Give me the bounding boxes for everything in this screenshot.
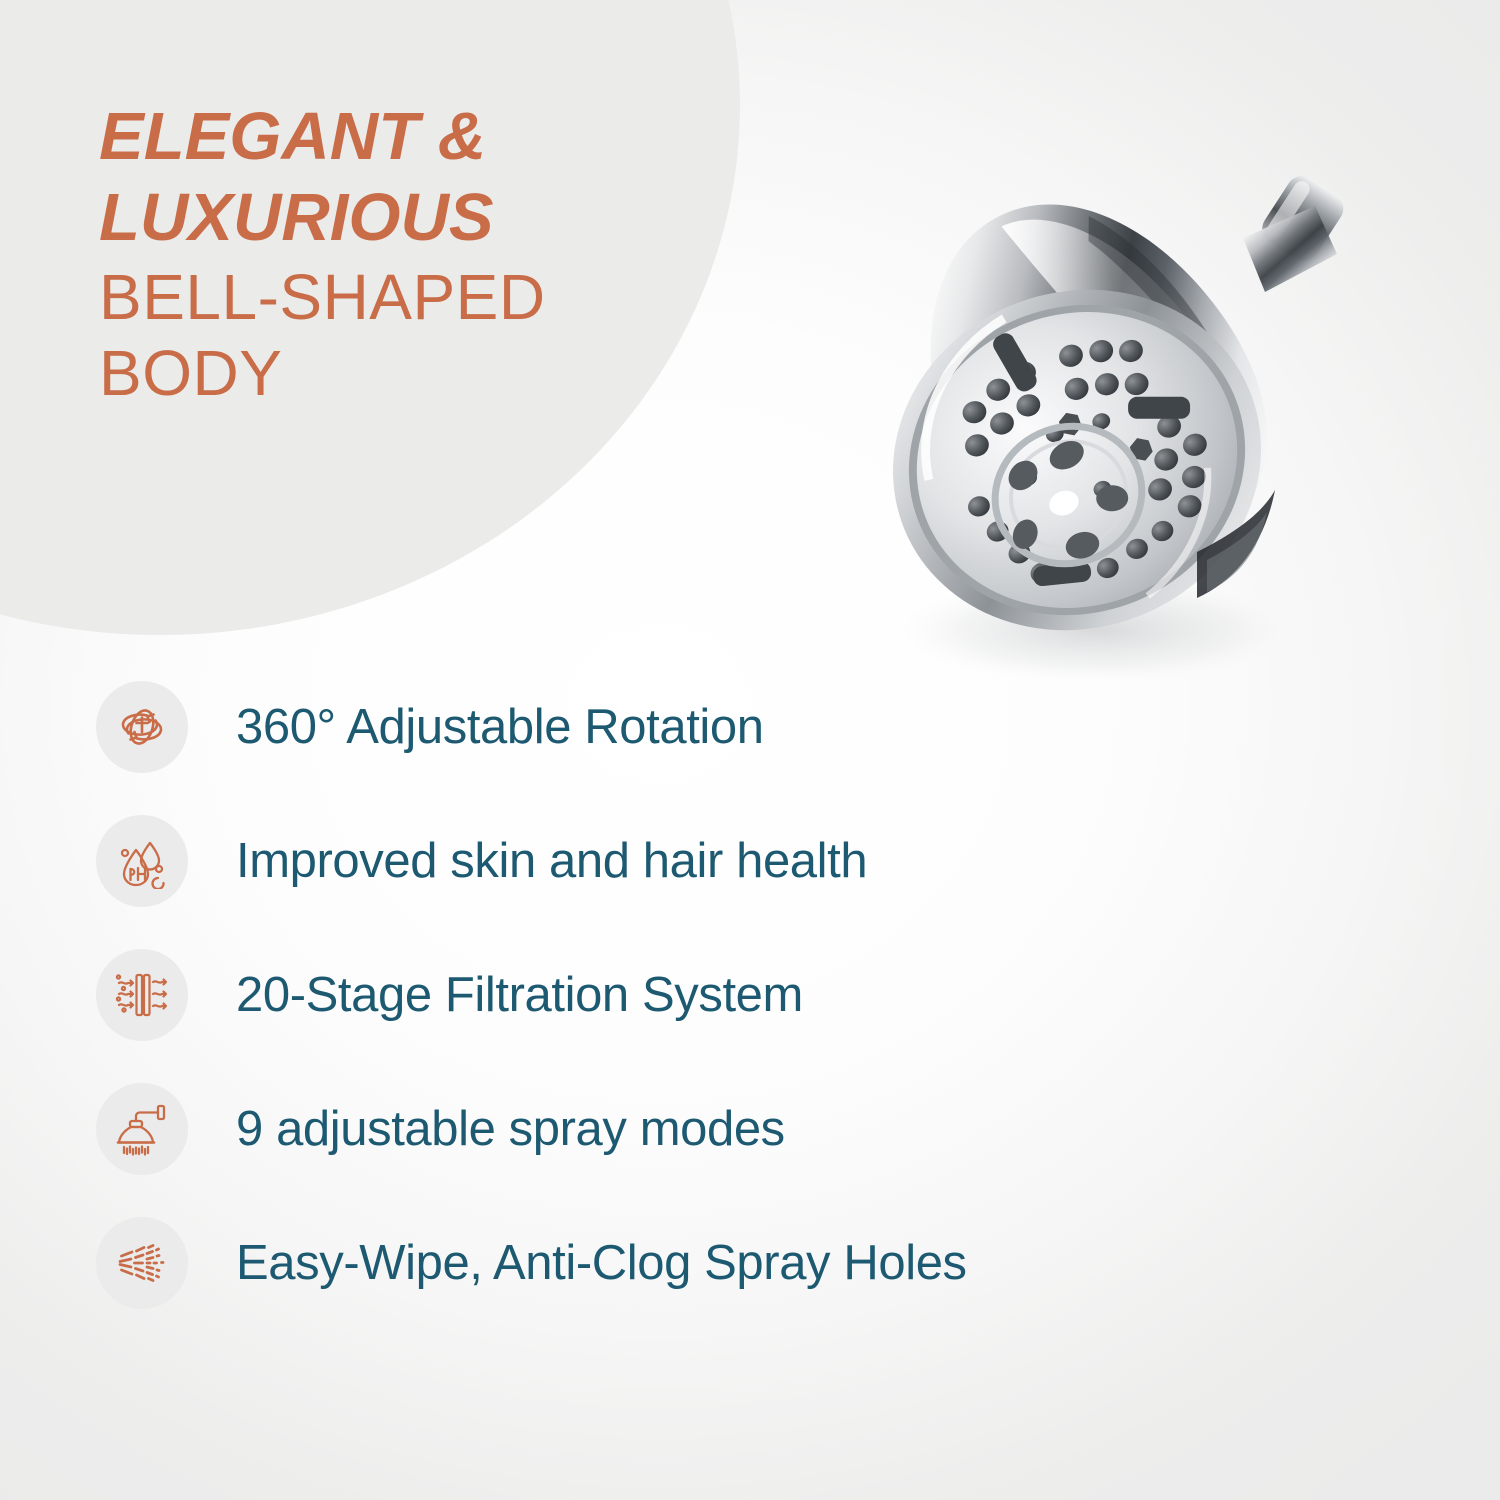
feature-label: Easy-Wipe, Anti-Clog Spray Holes — [236, 1235, 967, 1291]
feature-row-rotation: 360° Adjustable Rotation — [96, 672, 1416, 782]
headline-line-4: BODY — [99, 341, 719, 405]
feature-icon-badge — [96, 1083, 188, 1175]
feature-list: 360° Adjustable Rotation — [96, 672, 1416, 1318]
rotation-360-icon — [114, 699, 170, 755]
feature-icon-badge — [96, 681, 188, 773]
filtration-icon — [114, 967, 170, 1023]
shower-head-icon — [114, 1101, 170, 1157]
feature-row-filtration: 20-Stage Filtration System — [96, 940, 1416, 1050]
feature-row-anti-clog: Easy-Wipe, Anti-Clog Spray Holes — [96, 1208, 1416, 1318]
feature-label: 9 adjustable spray modes — [236, 1101, 785, 1157]
ph-water-drop-icon — [114, 833, 170, 889]
product-image-shower-head — [845, 160, 1385, 700]
feature-icon-badge — [96, 949, 188, 1041]
headline-line-2: LUXURIOUS — [99, 184, 719, 251]
spray-fan-icon — [114, 1235, 170, 1291]
feature-label: 20-Stage Filtration System — [236, 967, 803, 1023]
headline-line-3: BELL-SHAPED — [99, 265, 719, 329]
page-title: ELEGANT & LUXURIOUS BELL-SHAPED BODY — [99, 103, 719, 417]
feature-row-spray-modes: 9 adjustable spray modes — [96, 1074, 1416, 1184]
headline-line-1: ELEGANT & — [99, 103, 719, 170]
feature-label: Improved skin and hair health — [236, 833, 867, 889]
feature-icon-badge — [96, 1217, 188, 1309]
feature-label: 360° Adjustable Rotation — [236, 699, 764, 755]
feature-row-ph-health: Improved skin and hair health — [96, 806, 1416, 916]
infographic-page: ELEGANT & LUXURIOUS BELL-SHAPED BODY — [0, 0, 1500, 1500]
feature-icon-badge — [96, 815, 188, 907]
